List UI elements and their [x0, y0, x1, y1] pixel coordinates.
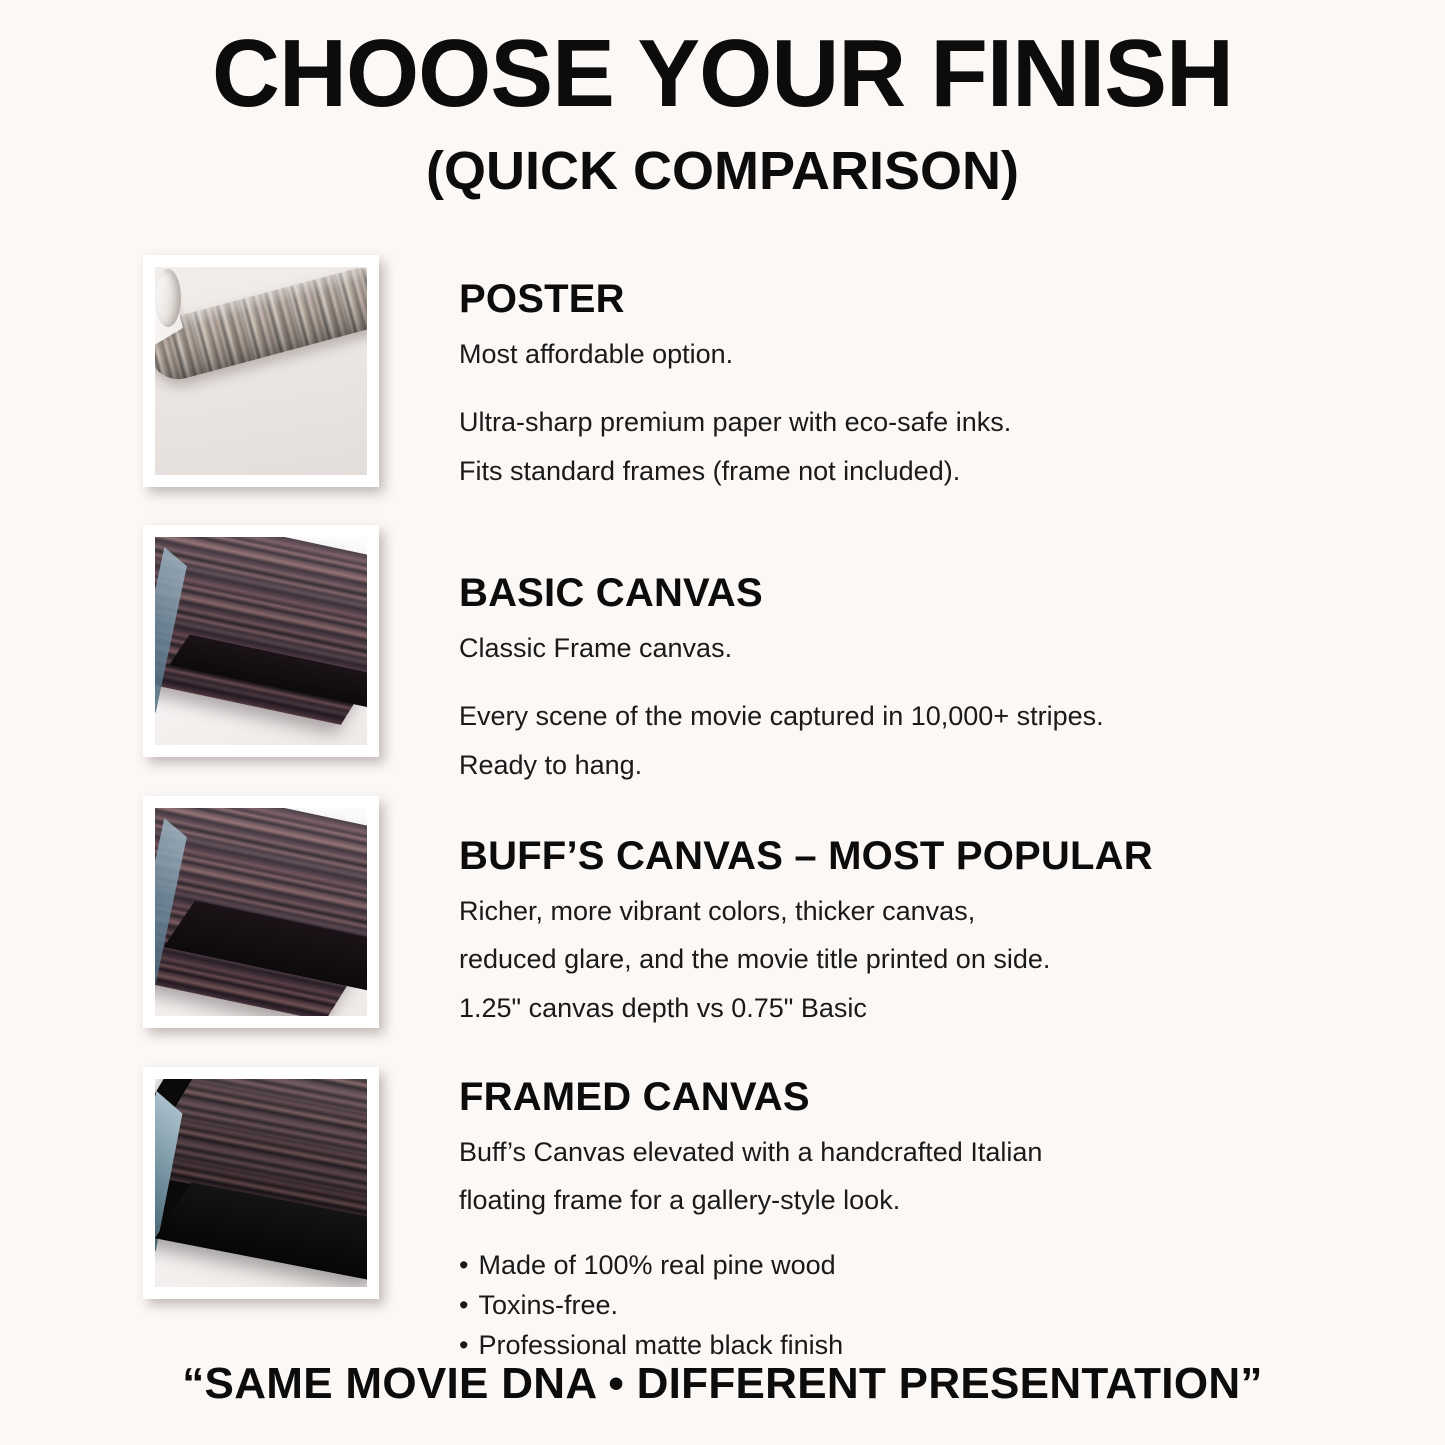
option-row-buffs-canvas: BUFF’S CANVAS – MOST POPULAR Richer, mor…: [0, 796, 1445, 1028]
framed-canvas-line-2: floating frame for a gallery-style look.: [459, 1181, 1325, 1219]
framed-canvas-title: FRAMED CANVAS: [459, 1075, 1325, 1119]
poster-title: POSTER: [459, 277, 1325, 321]
framed-canvas-line-1: Buff’s Canvas elevated with a handcrafte…: [459, 1133, 1325, 1171]
buffs-canvas-corner-photo: [155, 808, 367, 1016]
framed-canvas-corner-photo: [155, 1079, 367, 1287]
header: CHOOSE YOUR FINISH (QUICK COMPARISON): [0, 0, 1445, 198]
buffs-canvas-thumbnail-card: [143, 796, 379, 1028]
poster-photo-background: [155, 267, 367, 475]
footer-tagline: “SAME MOVIE DNA • DIFFERENT PRESENTATION…: [0, 1359, 1445, 1409]
basic-canvas-photo-background: [155, 537, 367, 745]
infographic-page: CHOOSE YOUR FINISH (QUICK COMPARISON) PO…: [0, 0, 1445, 1445]
poster-thumbnail-card: [143, 255, 379, 487]
buffs-canvas-line-2: reduced glare, and the movie title print…: [459, 940, 1325, 978]
option-row-poster: POSTER Most affordable option. Ultra-sha…: [0, 255, 1445, 490]
basic-canvas-thumbnail-card: [143, 525, 379, 757]
buffs-canvas-photo-background: [155, 808, 367, 1016]
poster-line-3: Fits standard frames (frame not included…: [459, 452, 1325, 490]
basic-canvas-content: BASIC CANVAS Classic Frame canvas. Every…: [459, 525, 1445, 784]
framed-canvas-content: FRAMED CANVAS Buff’s Canvas elevated wit…: [459, 1067, 1445, 1366]
buffs-canvas-content: BUFF’S CANVAS – MOST POPULAR Richer, mor…: [459, 796, 1445, 1027]
list-item: Made of 100% real pine wood: [459, 1246, 1325, 1286]
poster-content: POSTER Most affordable option. Ultra-sha…: [459, 255, 1445, 490]
framed-canvas-bullet-list: Made of 100% real pine wood Toxins-free.…: [459, 1246, 1325, 1366]
basic-canvas-corner-photo: [155, 537, 367, 745]
basic-canvas-title: BASIC CANVAS: [459, 571, 1325, 615]
poster-line-1: Most affordable option.: [459, 335, 1325, 373]
poster-roll-photo: [155, 267, 367, 475]
basic-canvas-line-2: Every scene of the movie captured in 10,…: [459, 697, 1325, 735]
page-title: CHOOSE YOUR FINISH: [14, 26, 1430, 122]
list-item: Toxins-free.: [459, 1286, 1325, 1326]
poster-line-2: Ultra-sharp premium paper with eco-safe …: [459, 403, 1325, 441]
poster-roll-body: [155, 267, 367, 386]
framed-canvas-thumbnail-card: [143, 1067, 379, 1299]
basic-canvas-line-3: Ready to hang.: [459, 746, 1325, 784]
poster-roll-end-cap: [155, 269, 181, 327]
option-row-framed-canvas: FRAMED CANVAS Buff’s Canvas elevated wit…: [0, 1067, 1445, 1366]
buffs-canvas-line-3: 1.25" canvas depth vs 0.75" Basic: [459, 989, 1325, 1027]
framed-canvas-photo-background: [155, 1079, 367, 1287]
option-row-basic-canvas: BASIC CANVAS Classic Frame canvas. Every…: [0, 525, 1445, 784]
buffs-canvas-title: BUFF’S CANVAS – MOST POPULAR: [459, 834, 1325, 878]
buffs-canvas-line-1: Richer, more vibrant colors, thicker can…: [459, 892, 1325, 930]
basic-canvas-line-1: Classic Frame canvas.: [459, 629, 1325, 667]
page-subtitle: (QUICK COMPARISON): [0, 144, 1445, 198]
